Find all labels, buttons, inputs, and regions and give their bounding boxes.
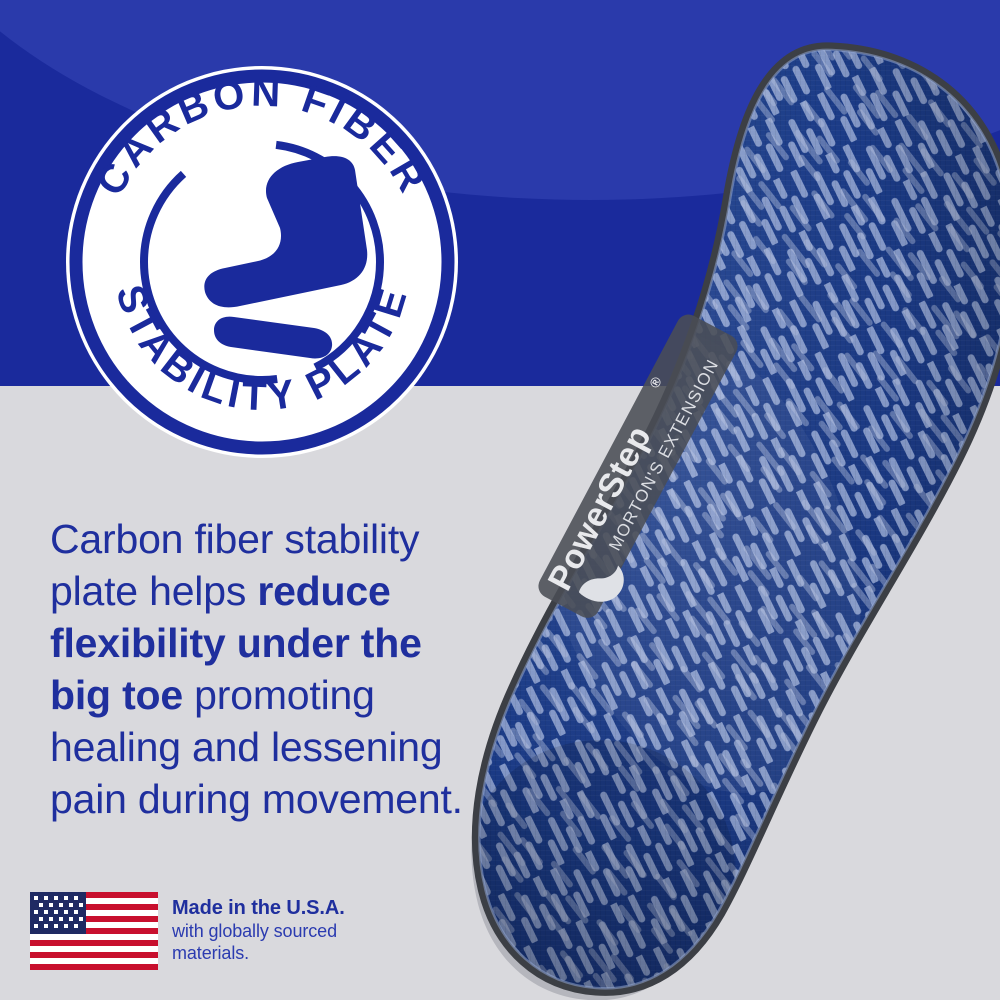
made-in-usa-subtitle-line1: with globally sourced <box>172 920 345 942</box>
us-flag-icon <box>30 892 158 970</box>
carbon-fiber-stability-plate-badge: CARBON FIBER STABILITY PLATE <box>62 62 462 462</box>
made-in-usa-text: Made in the U.S.A. with globally sourced… <box>172 892 345 964</box>
made-in-usa-subtitle-line2: materials. <box>172 942 345 964</box>
made-in-usa-title: Made in the U.S.A. <box>172 896 345 920</box>
product-feature-graphic: CARBON FIBER STABILITY PLATE <box>0 0 1000 1000</box>
made-in-usa-block: Made in the U.S.A. with globally sourced… <box>30 892 345 970</box>
feature-description: Carbon fiber stability plate helps reduc… <box>50 513 470 825</box>
